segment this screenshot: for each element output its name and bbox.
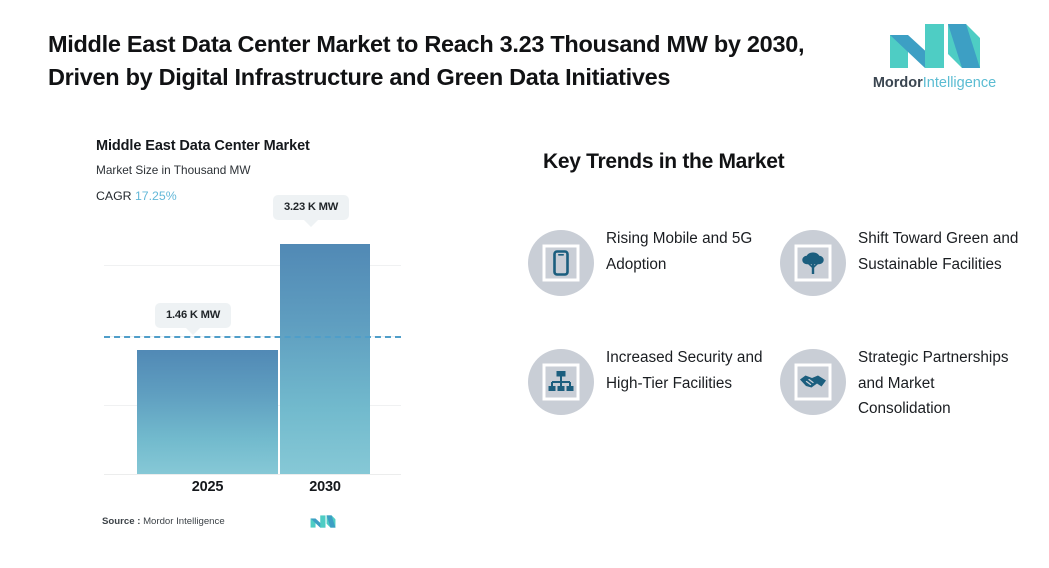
market-size-chart: Middle East Data Center Market Market Si…: [96, 138, 401, 538]
chart-source: Source : Mordor Intelligence: [102, 514, 401, 534]
trend-label: Shift Toward Green and Sustainable Facil…: [858, 226, 1028, 277]
smartphone-icon: [541, 243, 581, 283]
trend-item: Shift Toward Green and Sustainable Facil…: [780, 226, 1030, 346]
chart-subtitle: Market Size in Thousand MW: [96, 163, 401, 177]
org-chart-icon: [541, 362, 581, 402]
trend-label: Strategic Partnerships and Market Consol…: [858, 345, 1028, 422]
brand-name-primary: Mordor: [873, 75, 923, 91]
trend-icon-badge: [528, 349, 594, 415]
chart-title: Middle East Data Center Market: [96, 138, 401, 154]
infographic-page: Middle East Data Center Market to Reach …: [0, 0, 1049, 568]
trend-item: Strategic Partnerships and Market Consol…: [780, 345, 1030, 465]
trend-icon-badge: [780, 349, 846, 415]
reference-dashed-line: [104, 336, 401, 338]
source-prefix: Source :: [102, 516, 140, 527]
chart-cagr: CAGR 17.25%: [96, 189, 401, 203]
cagr-label: CAGR: [96, 189, 132, 203]
trend-icon-badge: [528, 230, 594, 296]
trend-label: Rising Mobile and 5G Adoption: [606, 226, 776, 277]
brand-logo: MordorIntelligence: [862, 22, 1007, 94]
mordor-m-logo-icon: [888, 22, 982, 70]
value-tooltip-2025: 1.46 K MW: [155, 303, 231, 328]
x-tick-label: 2025: [137, 479, 278, 495]
chart-x-axis: 2025 2030: [96, 479, 401, 503]
source-text: Source : Mordor Intelligence: [102, 516, 225, 527]
chart-plot-area: 1.46 K MW 3.23 K MW: [96, 230, 401, 475]
header: Middle East Data Center Market to Reach …: [0, 0, 1049, 112]
tree-icon: [793, 243, 833, 283]
key-trends-panel: Key Trends in the Market Rising Mobile a…: [528, 138, 1028, 508]
bar-2025: [137, 350, 278, 474]
trend-icon-badge: [780, 230, 846, 296]
brand-wordmark: MordorIntelligence: [862, 75, 1007, 91]
trend-item: Increased Security and High-Tier Facilit…: [528, 345, 778, 465]
bar-2030: [280, 244, 370, 474]
mordor-m-logo-icon: [310, 514, 336, 529]
page-title: Middle East Data Center Market to Reach …: [48, 28, 838, 94]
source-name: Mordor Intelligence: [143, 516, 225, 527]
trends-title: Key Trends in the Market: [543, 150, 784, 174]
trend-item: Rising Mobile and 5G Adoption: [528, 226, 778, 346]
brand-name-secondary: Intelligence: [923, 75, 996, 91]
cagr-value: 17.25%: [135, 189, 177, 203]
handshake-icon: [793, 362, 833, 402]
axis-baseline: [104, 474, 401, 475]
trend-label: Increased Security and High-Tier Facilit…: [606, 345, 776, 396]
x-tick-label: 2030: [280, 479, 370, 495]
value-tooltip-2030: 3.23 K MW: [273, 195, 349, 220]
